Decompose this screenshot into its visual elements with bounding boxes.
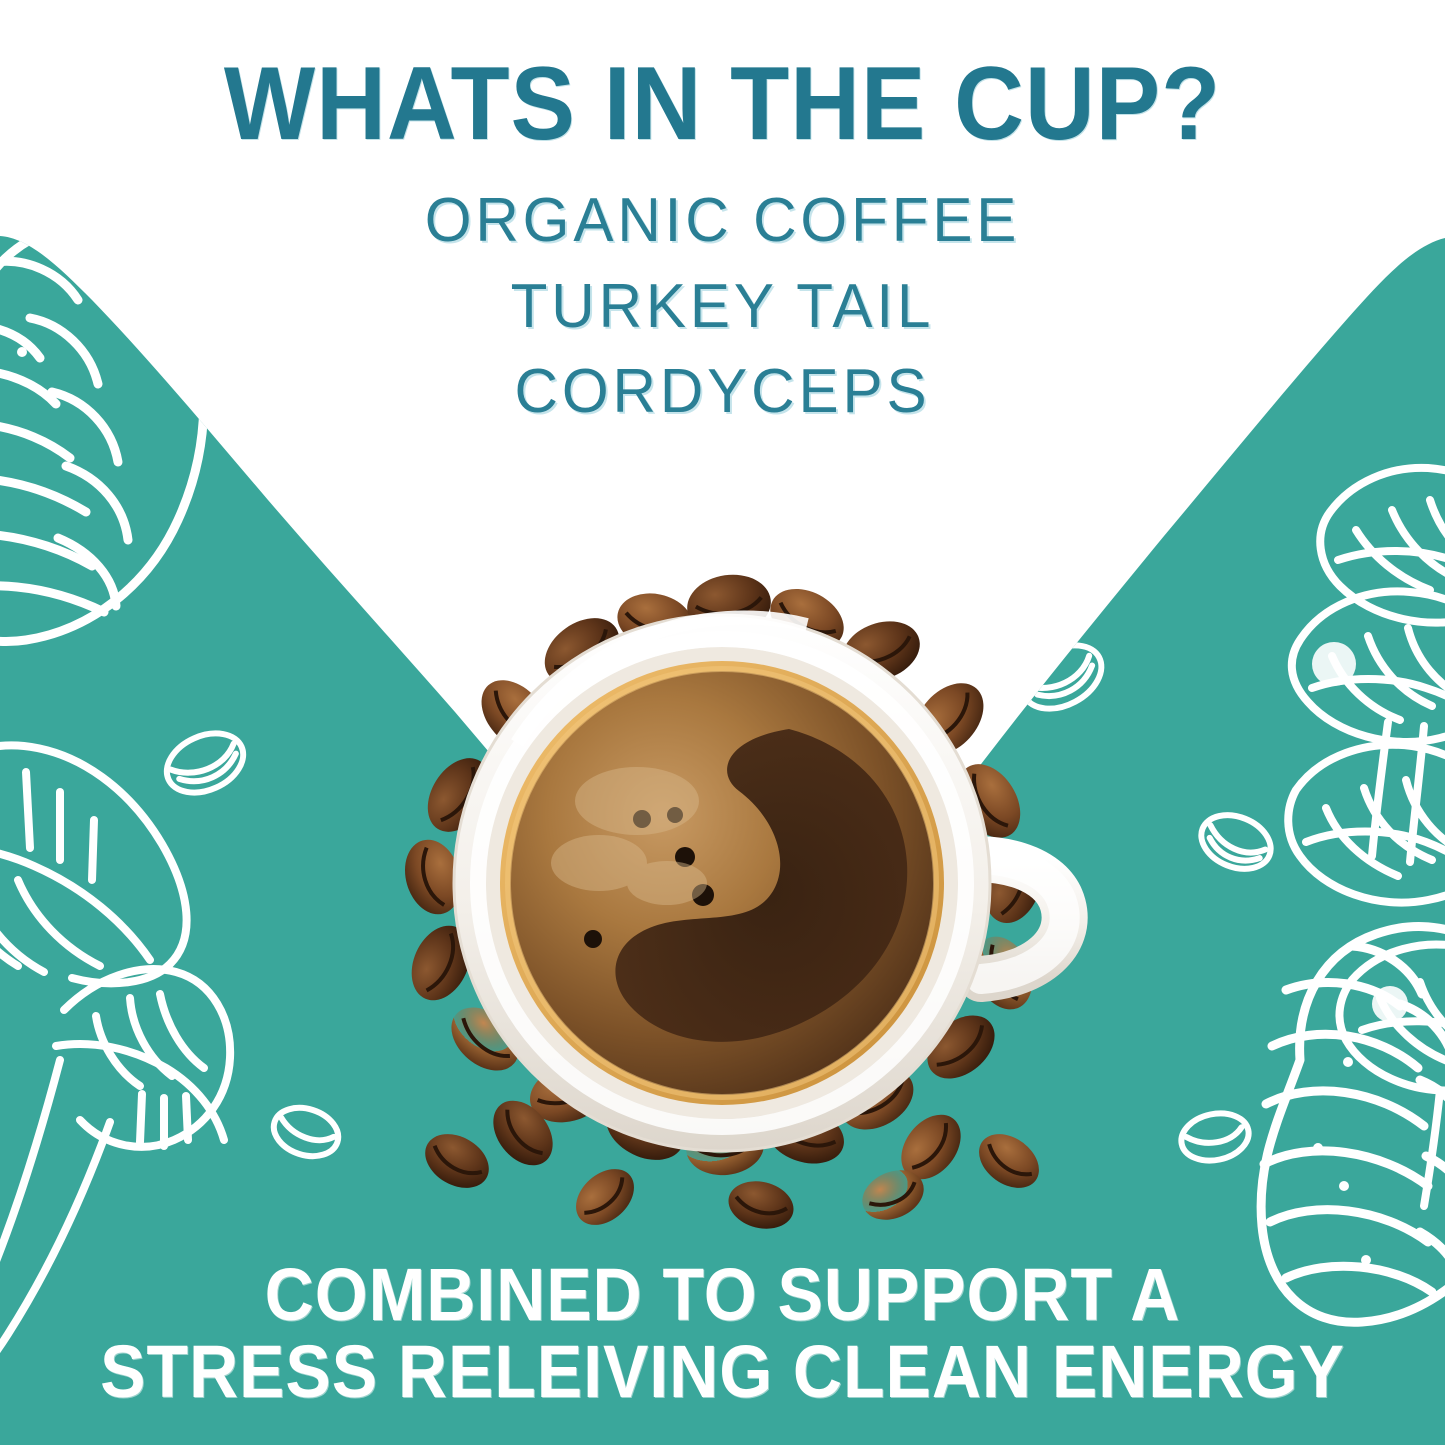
coffee-cup [454, 615, 990, 1151]
ingredient-item-organic-coffee: ORGANIC COFFEE [22, 178, 1424, 264]
tagline-block: COMBINED TO SUPPORT A STRESS RELEIVING C… [0, 1257, 1445, 1411]
tagline-line-2: STRESS RELEIVING CLEAN ENERGY [58, 1334, 1387, 1411]
ingredient-item-cordyceps: CORDYCEPS [22, 349, 1424, 435]
poster-canvas: WHATS IN THE CUP? ORGANIC COFFEE TURKEY … [0, 0, 1445, 1445]
coffee-cup-photo [337, 533, 1107, 1233]
header-block: WHATS IN THE CUP? ORGANIC COFFEE TURKEY … [0, 52, 1445, 435]
ingredient-list: ORGANIC COFFEE TURKEY TAIL CORDYCEPS [0, 178, 1445, 435]
ingredient-item-turkey-tail: TURKEY TAIL [22, 264, 1424, 350]
tagline-line-1: COMBINED TO SUPPORT A [58, 1257, 1387, 1334]
page-title: WHATS IN THE CUP? [51, 52, 1395, 156]
